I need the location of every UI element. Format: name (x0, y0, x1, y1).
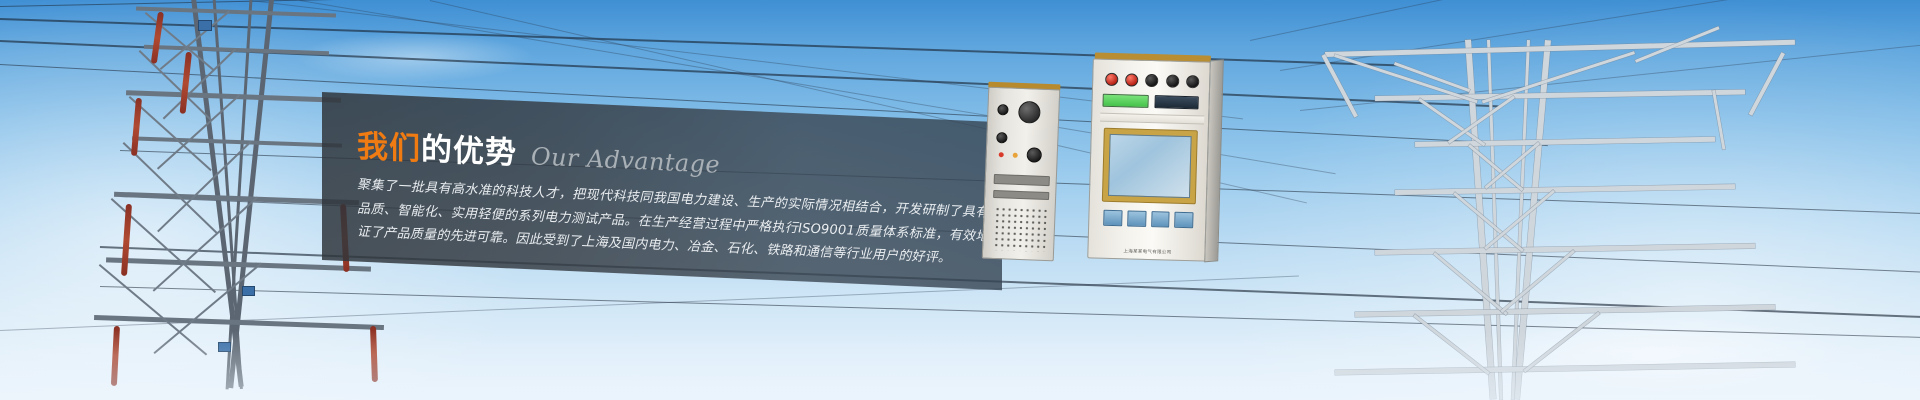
headline-subtitle-en: Our Advantage (531, 142, 720, 178)
insulator-string (131, 98, 142, 156)
rotary-knob-icon (1018, 101, 1041, 124)
insulator-string (111, 326, 120, 386)
advantage-banner: 我们的优势 Our Advantage 聚集了一批具有高水准的科技人才，把现代科… (0, 0, 1920, 400)
advantage-paragraph: 聚集了一批具有高水准的科技人才，把现代科技同我国电力建设、生产的实际情况相结合，… (357, 174, 1002, 273)
lcd-display-green (1102, 94, 1148, 108)
tower-marker-plate (198, 20, 212, 31)
keypad-button[interactable] (1174, 212, 1193, 229)
instrument-screen (1108, 134, 1192, 198)
insulator-string (370, 326, 378, 382)
tower-marker-plate (218, 342, 231, 352)
terminal-row (1101, 69, 1204, 92)
overlay-content: 我们的优势 Our Advantage 聚集了一批具有高水准的科技人才，把现代科… (322, 92, 1012, 298)
indicator-led-red (999, 152, 1004, 157)
terminal-red-icon (1105, 72, 1118, 85)
page-title: 我们的优势 (357, 132, 517, 170)
connector-port-icon (1026, 147, 1042, 163)
connector-port-icon (997, 104, 1008, 115)
advantage-description: 聚集了一批具有高水准的科技人才，把现代科技同我国电力建设、生产的实际情况相结合，… (357, 174, 1002, 273)
keypad-button[interactable] (1151, 211, 1170, 228)
keypad-button[interactable] (1103, 210, 1122, 227)
connector-port-icon (996, 132, 1007, 143)
instrument-chassis: 上海某某电气有限公司 (1087, 58, 1211, 261)
headline-plain: 的优势 (421, 131, 517, 171)
indicator-led-amber (1013, 153, 1018, 158)
terminal-black-icon (1146, 73, 1159, 86)
screen-bezel (1102, 128, 1198, 205)
keypad-button[interactable] (1127, 210, 1146, 227)
insulator-string (121, 204, 132, 276)
vent-slot (993, 190, 1049, 200)
terminal-red-icon (1125, 73, 1138, 86)
terminal-black-icon (1186, 75, 1199, 88)
test-instrument-right: 上海某某电气有限公司 (1087, 58, 1211, 261)
headline-accent: 我们 (357, 129, 421, 168)
instrument-brand-text: 上海某某电气有限公司 (1088, 247, 1206, 256)
instrument-nameplate (1100, 113, 1204, 125)
vent-slot (994, 174, 1050, 186)
tower-marker-plate (242, 286, 255, 296)
lcd-display-dark (1154, 95, 1198, 109)
lattice-tower-white (1215, 40, 1915, 400)
insulator-string (180, 52, 192, 114)
perforated-vent-panel (993, 206, 1047, 252)
terminal-black-icon (1166, 74, 1179, 87)
keypad-row (1103, 210, 1193, 229)
test-instrument-left (982, 87, 1061, 262)
instrument-chassis (982, 87, 1061, 262)
